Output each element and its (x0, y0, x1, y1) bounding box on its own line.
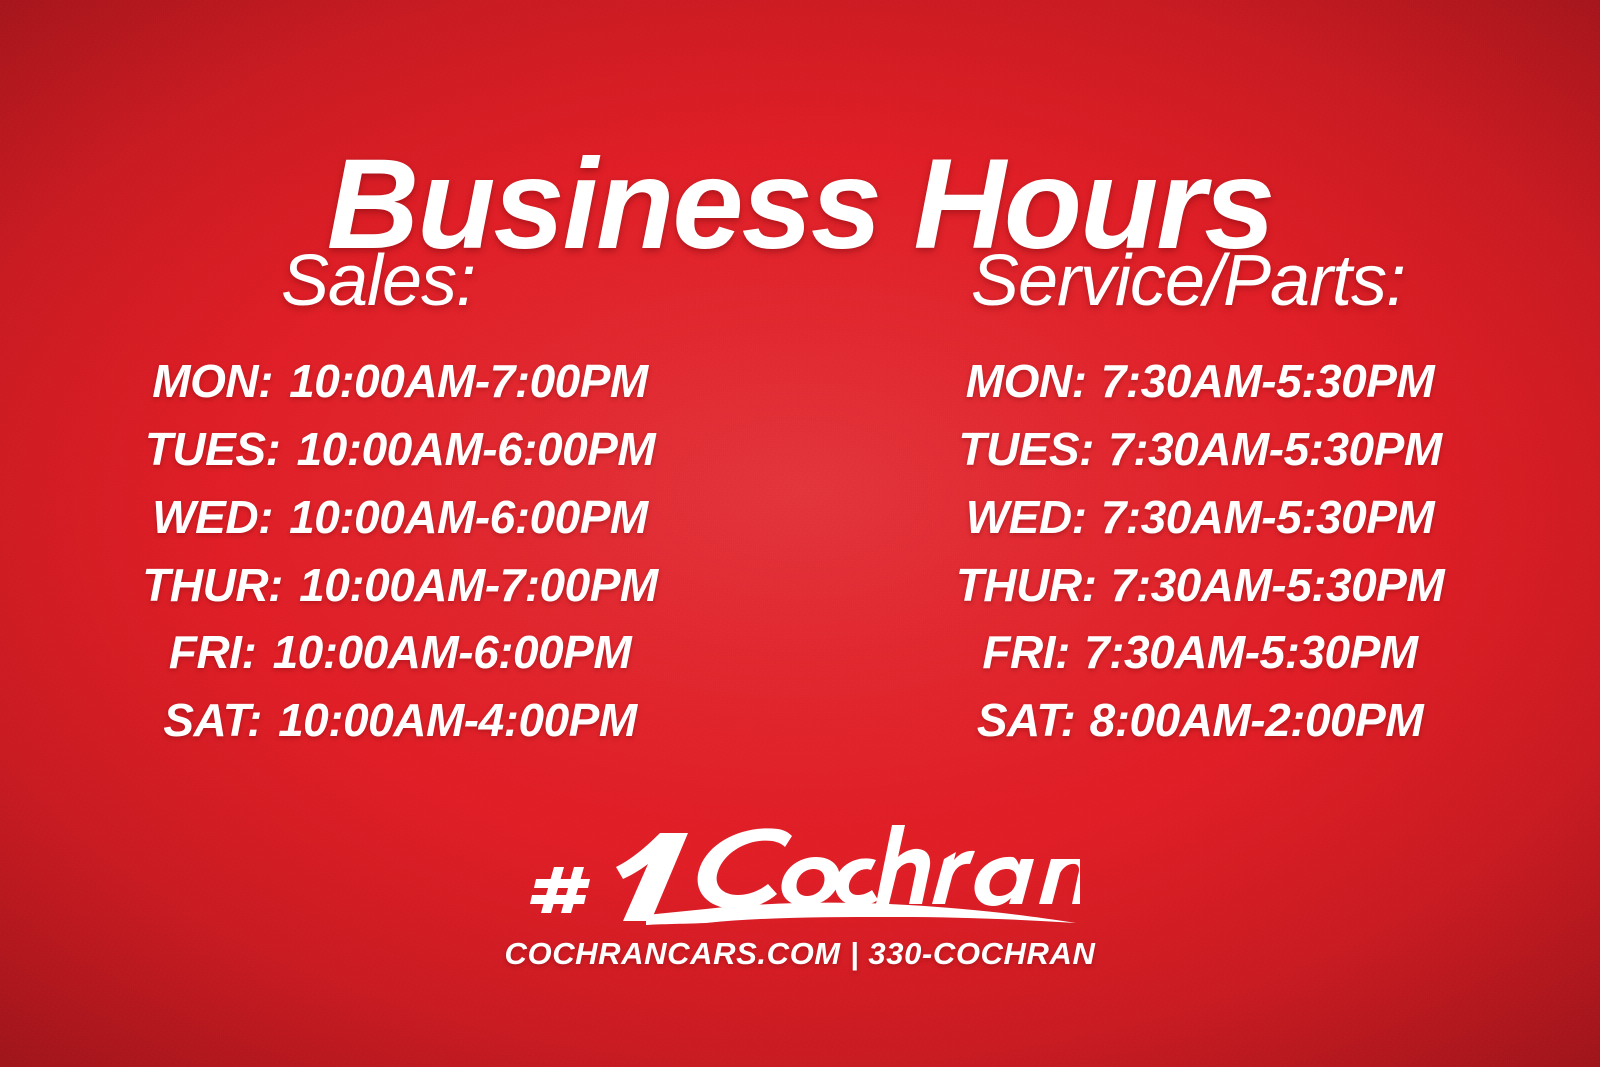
hours-row-day: MON: (152, 355, 273, 407)
hours-row-time: 7:30AM-5:30PM (1101, 491, 1435, 543)
hours-row-day: SAT: (977, 694, 1076, 746)
hours-row: FRI: 7:30AM-5:30PM (800, 619, 1600, 687)
hours-column-sales: Sales: MON: 10:00AM-7:00PM TUES: 10:00AM… (0, 240, 800, 755)
hours-row-time: 8:00AM-2:00PM (1090, 694, 1424, 746)
business-hours-poster: Business Hours Sales: MON: 10:00AM-7:00P… (0, 0, 1600, 1067)
hours-row: WED: 10:00AM-6:00PM (0, 484, 800, 552)
hours-row-time: 7:30AM-5:30PM (1084, 626, 1418, 678)
hours-row: SAT: 10:00AM-4:00PM (0, 687, 800, 755)
hours-row-day: FRI: (169, 626, 256, 678)
hours-row: TUES: 7:30AM-5:30PM (800, 416, 1600, 484)
hours-row-time: 10:00AM-6:00PM (297, 423, 656, 475)
hours-row-time: 7:30AM-5:30PM (1111, 559, 1445, 611)
hours-row-day: THUR: (956, 559, 1097, 611)
hours-row-day: TUES: (958, 423, 1094, 475)
hours-row-time: 7:30AM-5:30PM (1108, 423, 1442, 475)
hours-row-day: FRI: (982, 626, 1069, 678)
hours-column-service-parts: Service/Parts: MON: 7:30AM-5:30PM TUES: … (800, 240, 1600, 755)
hours-columns: Sales: MON: 10:00AM-7:00PM TUES: 10:00AM… (0, 240, 1600, 755)
cochran-number-one-script-logo-icon (520, 805, 1080, 925)
hours-row: MON: 7:30AM-5:30PM (800, 348, 1600, 416)
hours-row-time: 10:00AM-4:00PM (278, 694, 637, 746)
hours-row: THUR: 7:30AM-5:30PM (800, 552, 1600, 620)
column-heading-service-parts: Service/Parts: (800, 240, 1600, 322)
hours-row: MON: 10:00AM-7:00PM (0, 348, 800, 416)
hours-row-day: WED: (152, 491, 273, 543)
hours-list-sales: MON: 10:00AM-7:00PM TUES: 10:00AM-6:00PM… (0, 348, 800, 755)
hours-row: TUES: 10:00AM-6:00PM (0, 416, 800, 484)
brand-footer: COCHRANCARS.COM | 330-COCHRAN (0, 805, 1600, 972)
hours-row-day: THUR: (142, 559, 283, 611)
hours-row-day: SAT: (163, 694, 262, 746)
hours-row: SAT: 8:00AM-2:00PM (800, 687, 1600, 755)
hours-row-time: 10:00AM-6:00PM (273, 626, 632, 678)
hours-row-day: MON: (966, 355, 1087, 407)
hours-row-time: 10:00AM-6:00PM (289, 491, 648, 543)
hours-list-service-parts: MON: 7:30AM-5:30PM TUES: 7:30AM-5:30PM W… (800, 348, 1600, 755)
column-heading-sales: Sales: (0, 240, 800, 322)
hours-row-time: 10:00AM-7:00PM (299, 559, 658, 611)
hours-row-time: 10:00AM-7:00PM (289, 355, 648, 407)
hours-row: WED: 7:30AM-5:30PM (800, 484, 1600, 552)
hours-row-day: TUES: (145, 423, 281, 475)
hours-row-time: 7:30AM-5:30PM (1101, 355, 1435, 407)
hours-row: FRI: 10:00AM-6:00PM (0, 619, 800, 687)
footer-contact-line: COCHRANCARS.COM | 330-COCHRAN (0, 936, 1600, 972)
hours-row-day: WED: (966, 491, 1087, 543)
hours-row: THUR: 10:00AM-7:00PM (0, 552, 800, 620)
